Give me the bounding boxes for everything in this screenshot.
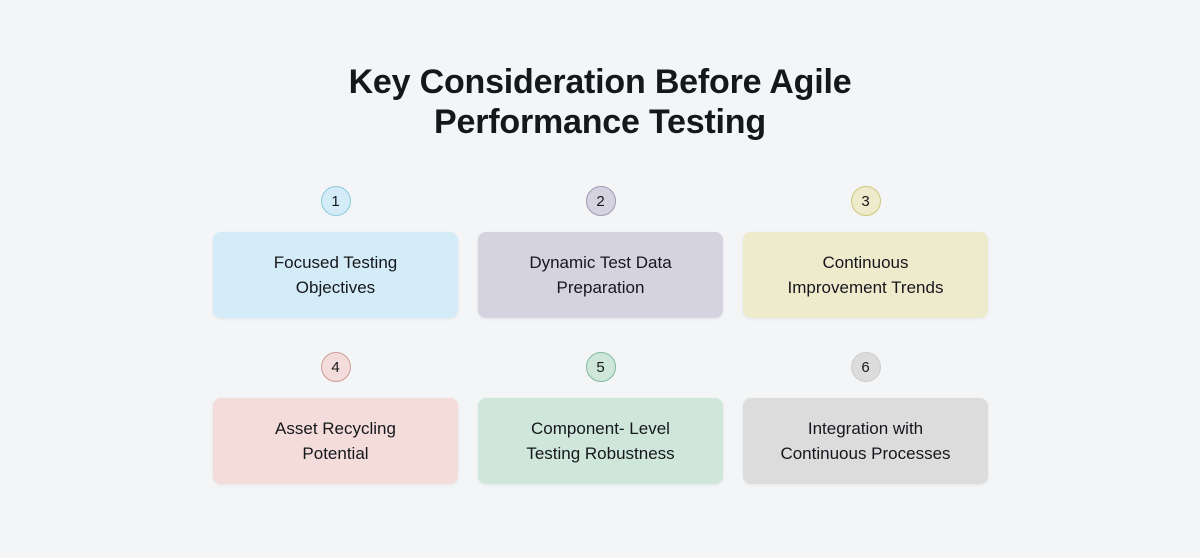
number-badge-1: 1	[321, 186, 351, 216]
number-badge-3: 3	[851, 186, 881, 216]
grid-row-2: 4 Asset Recycling Potential 5 Component-…	[213, 352, 988, 484]
consideration-card-label: Continuous Improvement Trends	[788, 250, 944, 300]
consideration-item-1: 1 Focused Testing Objectives	[213, 186, 458, 318]
page-title-line-2: Performance Testing	[0, 102, 1200, 142]
consideration-card-5: Component- Level Testing Robustness	[478, 398, 723, 484]
consideration-item-3: 3 Continuous Improvement Trends	[743, 186, 988, 318]
consideration-card-3: Continuous Improvement Trends	[743, 232, 988, 318]
consideration-item-6: 6 Integration with Continuous Processes	[743, 352, 988, 484]
page-title: Key Consideration Before Agile Performan…	[0, 62, 1200, 142]
number-badge-6: 6	[851, 352, 881, 382]
grid-row-1: 1 Focused Testing Objectives 2 Dynamic T…	[213, 186, 988, 318]
number-badge-label: 1	[331, 194, 339, 209]
consideration-card-label: Integration with Continuous Processes	[780, 416, 950, 466]
consideration-card-2: Dynamic Test Data Preparation	[478, 232, 723, 318]
consideration-card-1: Focused Testing Objectives	[213, 232, 458, 318]
consideration-card-label: Component- Level Testing Robustness	[526, 416, 674, 466]
number-badge-label: 4	[331, 360, 339, 375]
consideration-card-4: Asset Recycling Potential	[213, 398, 458, 484]
number-badge-2: 2	[586, 186, 616, 216]
number-badge-label: 5	[596, 360, 604, 375]
number-badge-4: 4	[321, 352, 351, 382]
page-title-line-1: Key Consideration Before Agile	[0, 62, 1200, 102]
consideration-card-label: Dynamic Test Data Preparation	[529, 250, 671, 300]
consideration-grid: 1 Focused Testing Objectives 2 Dynamic T…	[213, 186, 988, 484]
infographic-canvas: Key Consideration Before Agile Performan…	[0, 0, 1200, 558]
consideration-item-5: 5 Component- Level Testing Robustness	[478, 352, 723, 484]
number-badge-label: 2	[596, 194, 604, 209]
consideration-card-6: Integration with Continuous Processes	[743, 398, 988, 484]
consideration-card-label: Asset Recycling Potential	[275, 416, 396, 466]
consideration-item-4: 4 Asset Recycling Potential	[213, 352, 458, 484]
number-badge-5: 5	[586, 352, 616, 382]
number-badge-label: 6	[861, 360, 869, 375]
consideration-card-label: Focused Testing Objectives	[274, 250, 397, 300]
consideration-item-2: 2 Dynamic Test Data Preparation	[478, 186, 723, 318]
number-badge-label: 3	[861, 194, 869, 209]
